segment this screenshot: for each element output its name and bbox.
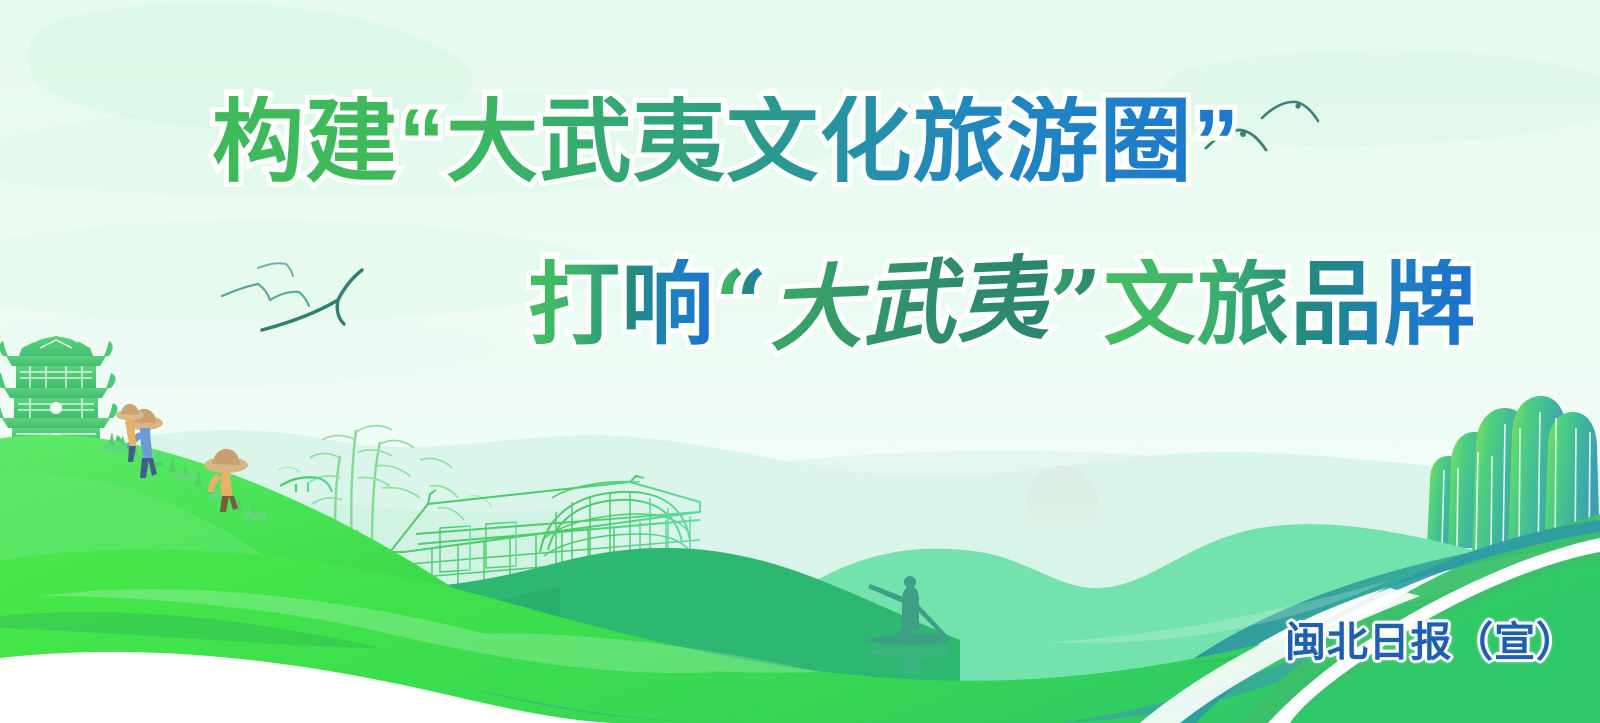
poster-canvas: 构建“大武夷文化旅游圈” 构建“大武夷文化旅游圈” 打响 打响 “ “ 大武夷 … xyxy=(0,0,1600,723)
publisher-credit: 闽北日报（宣） xyxy=(1285,608,1578,668)
